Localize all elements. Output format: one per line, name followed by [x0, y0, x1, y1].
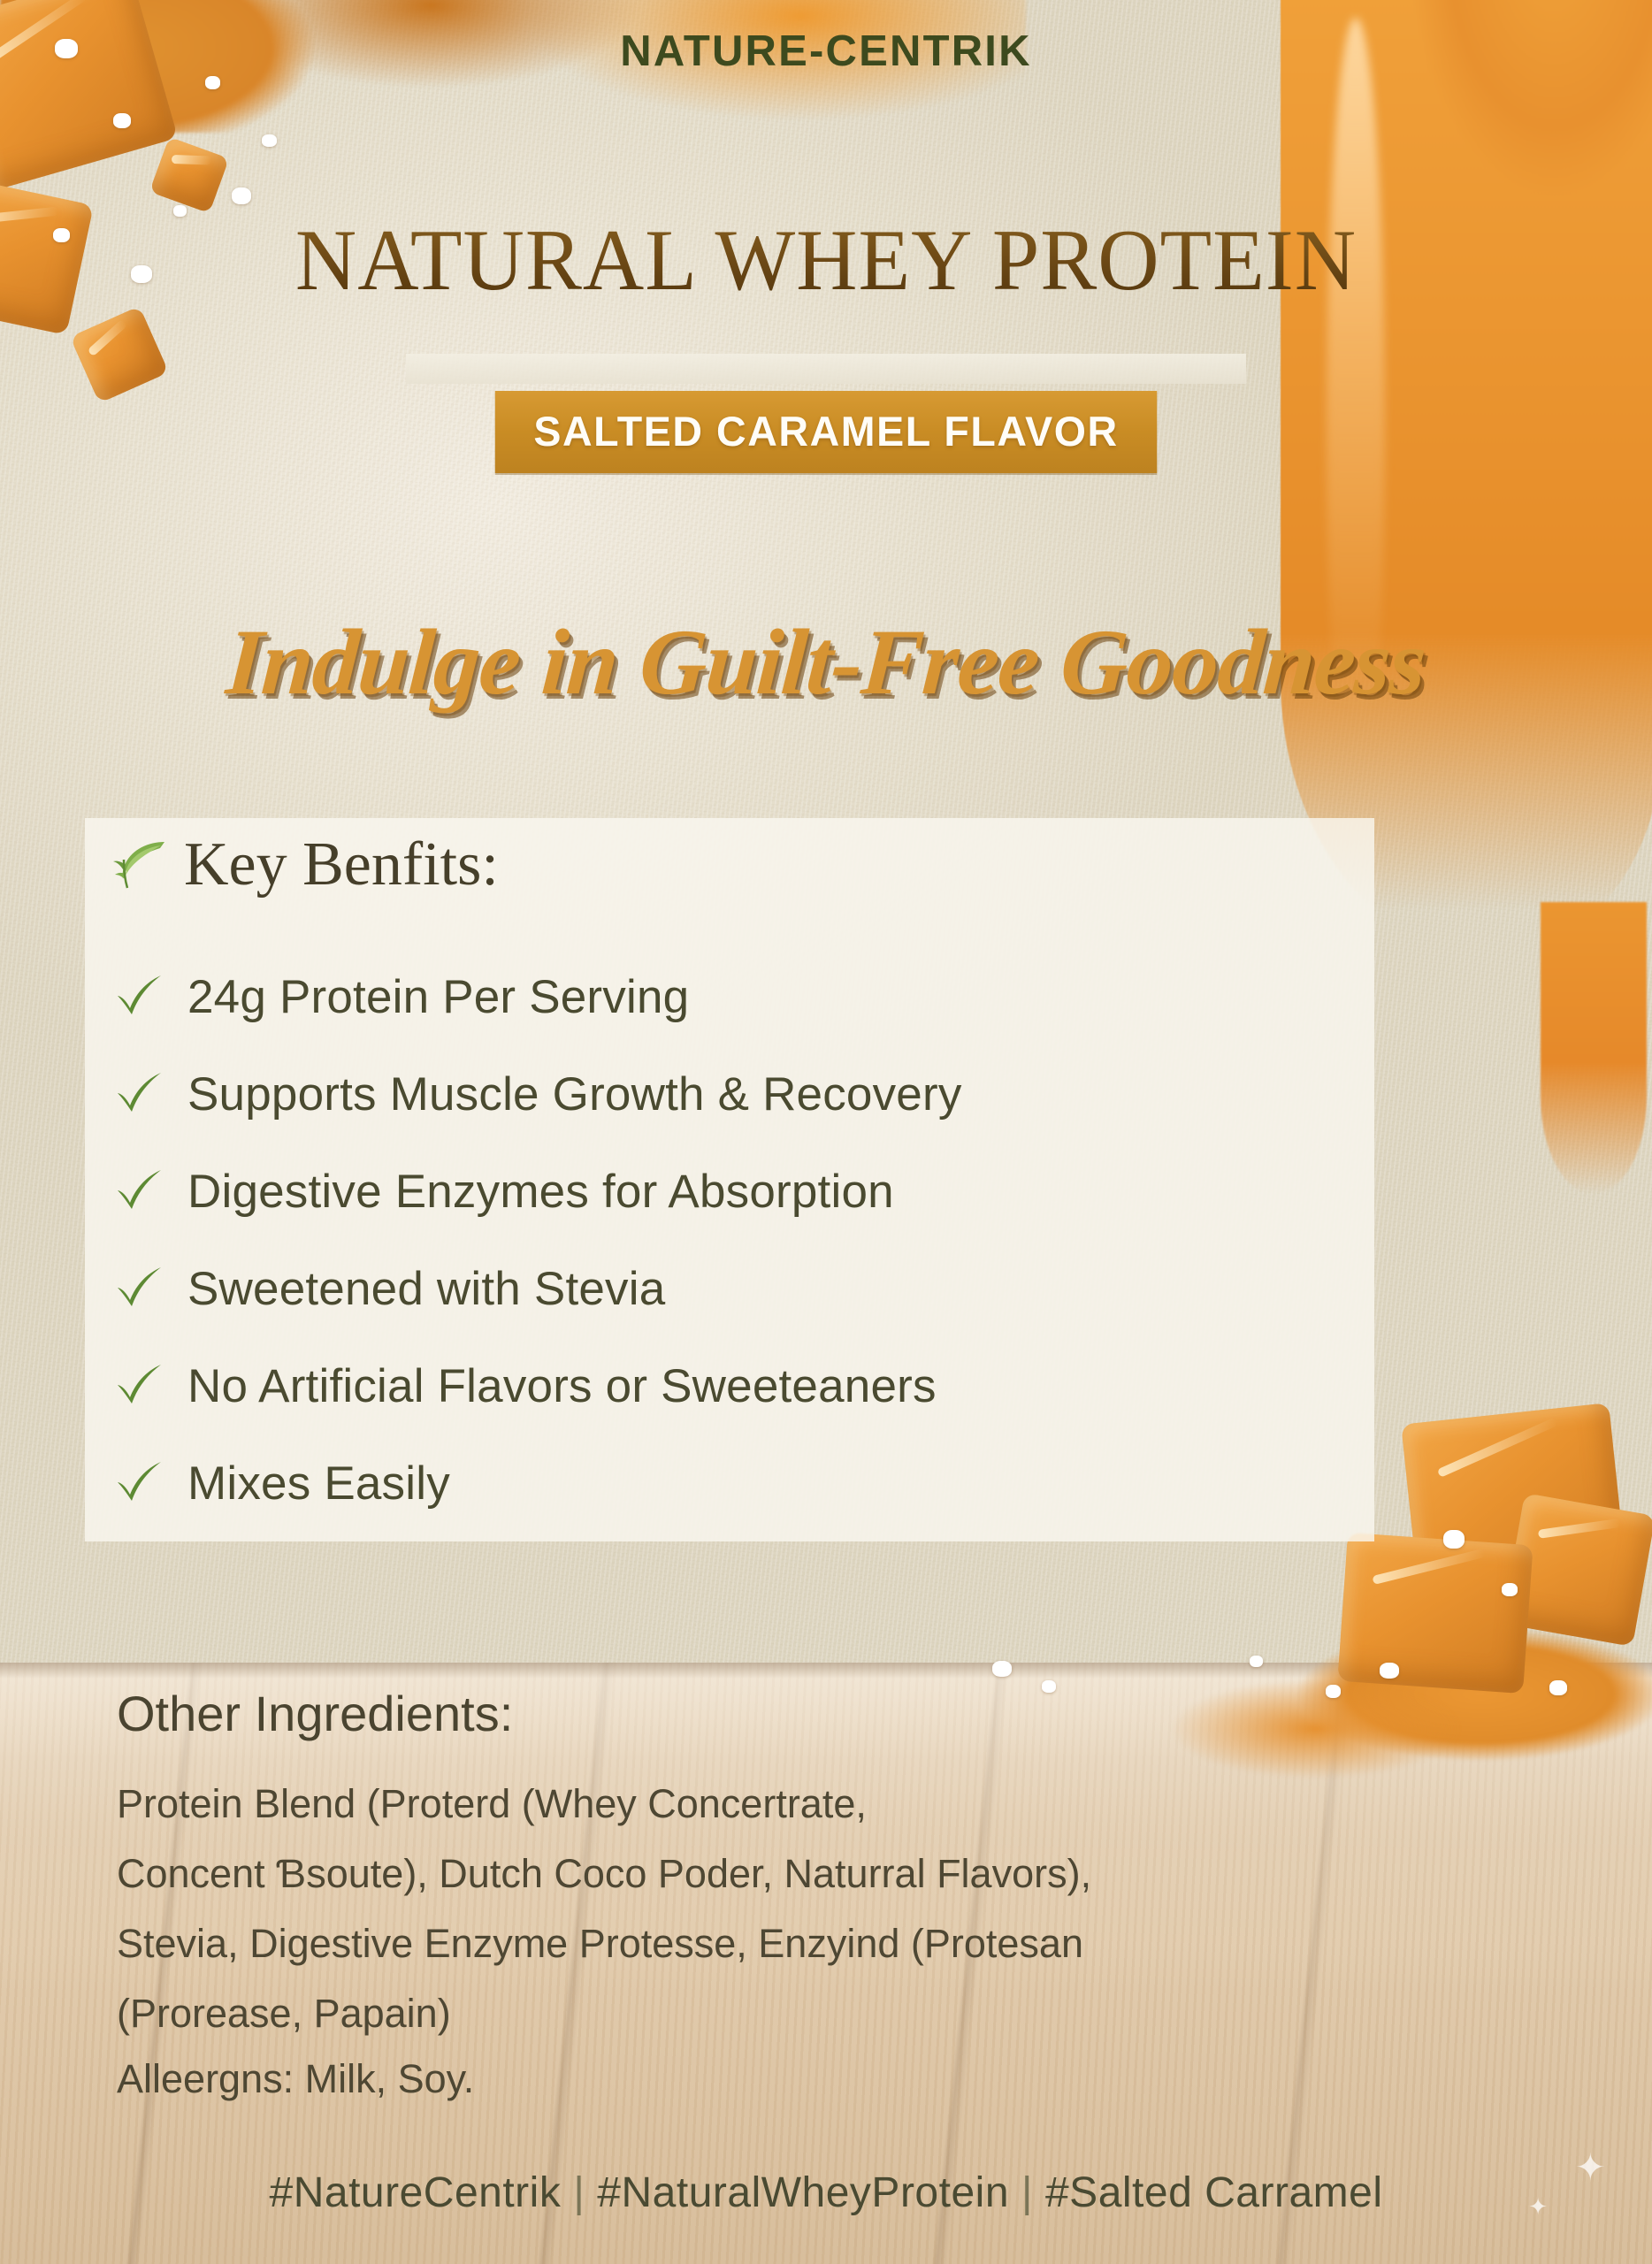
hashtag-separator: | — [561, 2169, 597, 2216]
poster-content: NATURE-CENTRIK NATURAL WHEY PROTEIN SALT… — [0, 0, 1652, 2264]
flavor-banner-wrap: SALTED CARAMEL FLAVOR — [0, 354, 1652, 473]
benefit-item: Mixes Easily — [115, 1434, 1291, 1532]
ingredients-line: Concent Ɓsoute), Dutch Coco Poder, Natur… — [117, 1839, 1408, 1908]
brand-name: NATURE-CENTRIK — [0, 27, 1652, 76]
benefit-item: No Artificial Flavors or Sweeteaners — [115, 1337, 1291, 1434]
benefits-heading: Key Benfits: — [113, 830, 499, 900]
ingredients-heading: Other Ingredients: — [117, 1685, 513, 1742]
benefit-label: Supports Muscle Growth & Recovery — [187, 1067, 962, 1121]
benefit-label: 24g Protein Per Serving — [187, 970, 689, 1024]
check-icon — [115, 1168, 164, 1214]
benefit-item: 24g Protein Per Serving — [115, 948, 1291, 1045]
benefit-label: No Artificial Flavors or Sweeteaners — [187, 1359, 937, 1413]
check-icon — [115, 1266, 164, 1312]
flavor-banner-backdrop — [406, 354, 1246, 384]
check-icon — [115, 1071, 164, 1117]
poster-canvas: ✦ ✦ NATURE-CENTRIK NATURAL WHEY PROTEIN … — [0, 0, 1652, 2264]
hashtag-separator: | — [1009, 2169, 1045, 2216]
ingredients-line: Protein Blend (Proterd (Whey Concertrate… — [117, 1769, 1408, 1839]
benefit-item: Sweetened with Stevia — [115, 1240, 1291, 1337]
tagline: Indulge in Guilt-Free Goodness — [4, 608, 1648, 716]
benefits-heading-text: Key Benfits: — [184, 830, 499, 900]
hashtag-natural-whey-protein: #NaturalWheyProtein — [597, 2169, 1009, 2216]
hashtag-salted-carramel: #Salted Carramel — [1045, 2169, 1383, 2216]
benefit-label: Sweetened with Stevia — [187, 1262, 665, 1316]
hashtag-footer: #NatureCentrik|#NaturalWheyProtein|#Salt… — [0, 2168, 1652, 2217]
benefit-item: Digestive Enzymes for Absorption — [115, 1143, 1291, 1240]
benefit-item: Supports Muscle Growth & Recovery — [115, 1045, 1291, 1143]
check-icon — [115, 1460, 164, 1506]
benefits-list: 24g Protein Per Serving Supports Muscle … — [115, 948, 1291, 1532]
ingredients-line: Stevia, Digestive Enzyme Protesse, Enzyi… — [117, 1908, 1408, 1978]
benefit-label: Mixes Easily — [187, 1457, 450, 1511]
allergens-text: Alleergns: Milk, Soy. — [117, 2056, 474, 2102]
benefit-label: Digestive Enzymes for Absorption — [187, 1165, 894, 1219]
leaf-icon — [113, 838, 170, 891]
hashtag-nature-centrik: #NatureCentrik — [270, 2169, 562, 2216]
check-icon — [115, 1363, 164, 1409]
flavor-banner: SALTED CARAMEL FLAVOR — [495, 391, 1158, 473]
ingredients-body: Protein Blend (Proterd (Whey Concertrate… — [117, 1769, 1408, 2048]
product-headline: NATURAL WHEY PROTEIN — [25, 210, 1627, 310]
ingredients-line: (Prorease, Papain) — [117, 1978, 1408, 2048]
check-icon — [115, 974, 164, 1020]
